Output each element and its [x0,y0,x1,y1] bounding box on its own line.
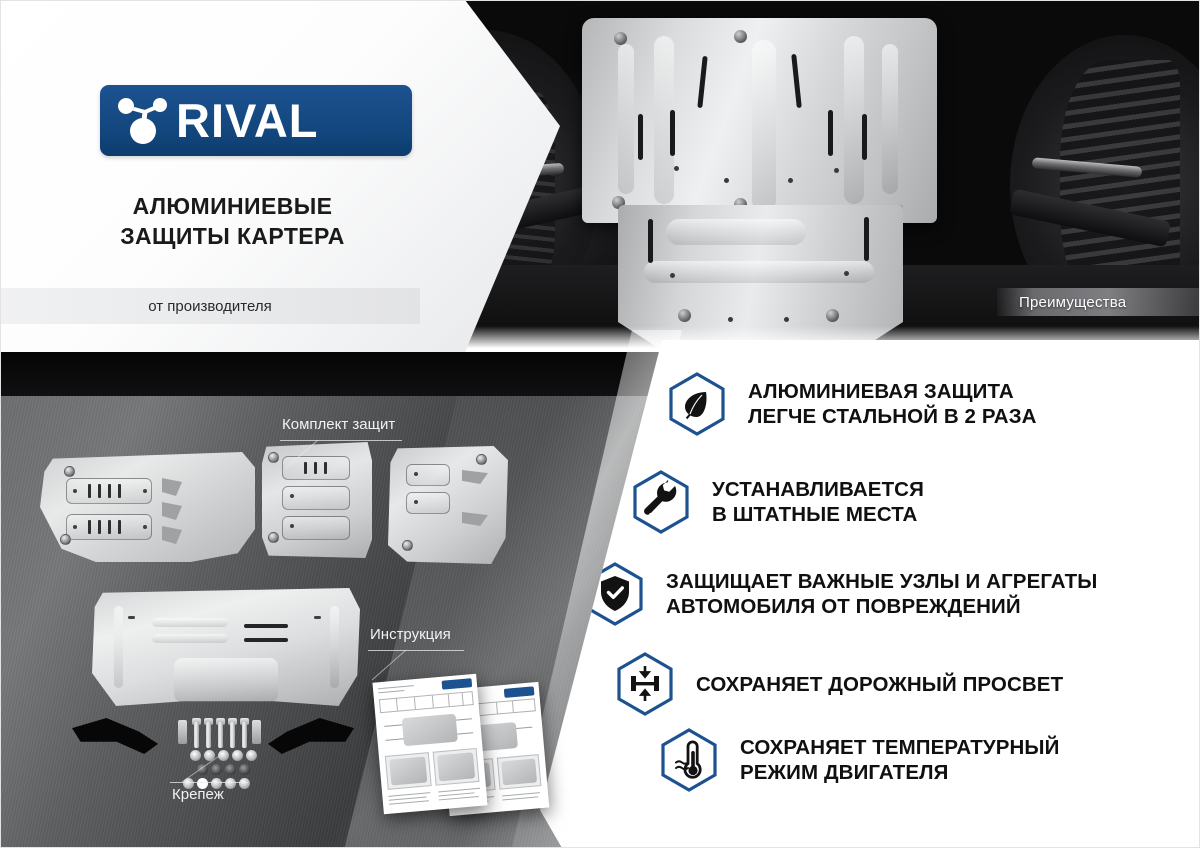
thermometer-icon [660,728,718,792]
feature-item-protection: ЗАЩИЩАЕТ ВАЖНЫЕ УЗЛЫ И АГРЕГАТЫ АВТОМОБИ… [586,562,1097,626]
skid-plate-bracketed [388,446,508,564]
feature-text-thermal: СОХРАНЯЕТ ТЕМПЕРАТУРНЫЙ РЕЖИМ ДВИГАТЕЛЯ [740,735,1059,785]
divider-band [0,352,660,396]
molecule-icon [114,95,170,147]
feature-text-clearance: СОХРАНЯЕТ ДОРОЖНЫЙ ПРОСВЕТ [696,672,1063,697]
instruction-sheet-front [372,674,487,815]
page-subtitle: от производителя [148,298,271,315]
ground-clearance-icon [616,652,674,716]
rival-logo: RIVAL [100,85,412,156]
skid-plate-main-large [92,588,360,706]
feature-item-fitment: УСТАНАВЛИВАЕТСЯ В ШТАТНЫЕ МЕСТА [632,470,924,534]
wrench-icon [632,470,690,534]
callout-kit-leader [280,438,320,470]
feature-text-protection: ЗАЩИЩАЕТ ВАЖНЫЕ УЗЛЫ И АГРЕГАТЫ АВТОМОБИ… [666,569,1097,619]
callout-kit-rule [280,440,402,441]
callout-hardware-leader [178,752,228,784]
callout-hardware-rule [170,782,248,783]
advantages-banner: Преимущества [997,288,1200,316]
feature-text-fitment: УСТАНАВЛИВАЕТСЯ В ШТАТНЫЕ МЕСТА [712,477,924,527]
feature-item-weight: АЛЮМИНИЕВАЯ ЗАЩИТА ЛЕГЧЕ СТАЛЬНОЙ В 2 РА… [668,372,1037,436]
callout-instruction-label: Инструкция [370,626,451,643]
callout-instruction-leader [368,648,408,682]
callout-kit: Комплект защит [282,416,395,433]
doc-rival-logo-2 [504,686,535,698]
leaf-icon [668,372,726,436]
callout-hardware-label: Крепеж [172,786,224,803]
feature-item-thermal: СОХРАНЯЕТ ТЕМПЕРАТУРНЫЙ РЕЖИМ ДВИГАТЕЛЯ [660,728,1059,792]
advantages-banner-label: Преимущества [997,294,1126,311]
doc-rival-logo [442,678,473,690]
rival-wordmark: RIVAL [176,97,319,144]
callout-hardware: Крепеж [172,786,224,803]
callout-instruction: Инструкция [370,626,451,643]
page-title: АЛЮМИНИЕВЫЕ ЗАЩИТЫ КАРТЕРА [0,192,465,252]
subtitle-bar: от производителя [0,288,420,324]
infographic-root: Преимущества RIVAL АЛЮМИНИЕВЫЕ ЗАЩИТЫ КА… [0,0,1200,848]
callout-kit-label: Комплект защит [282,416,395,433]
header-panel: RIVAL АЛЮМИНИЕВЫЕ ЗАЩИТЫ КАРТЕРА от прои… [0,0,560,352]
feature-item-clearance: СОХРАНЯЕТ ДОРОЖНЫЙ ПРОСВЕТ [616,652,1063,716]
callout-instruction-rule [368,650,464,651]
installed-skid-plate-upper [582,18,937,223]
feature-text-weight: АЛЮМИНИЕВАЯ ЗАЩИТА ЛЕГЧЕ СТАЛЬНОЙ В 2 РА… [748,379,1037,429]
page-title-line1: АЛЮМИНИЕВЫЕ [0,192,465,222]
skid-plate-wide [40,452,255,562]
page-title-line2: ЗАЩИТЫ КАРТЕРА [0,222,465,252]
